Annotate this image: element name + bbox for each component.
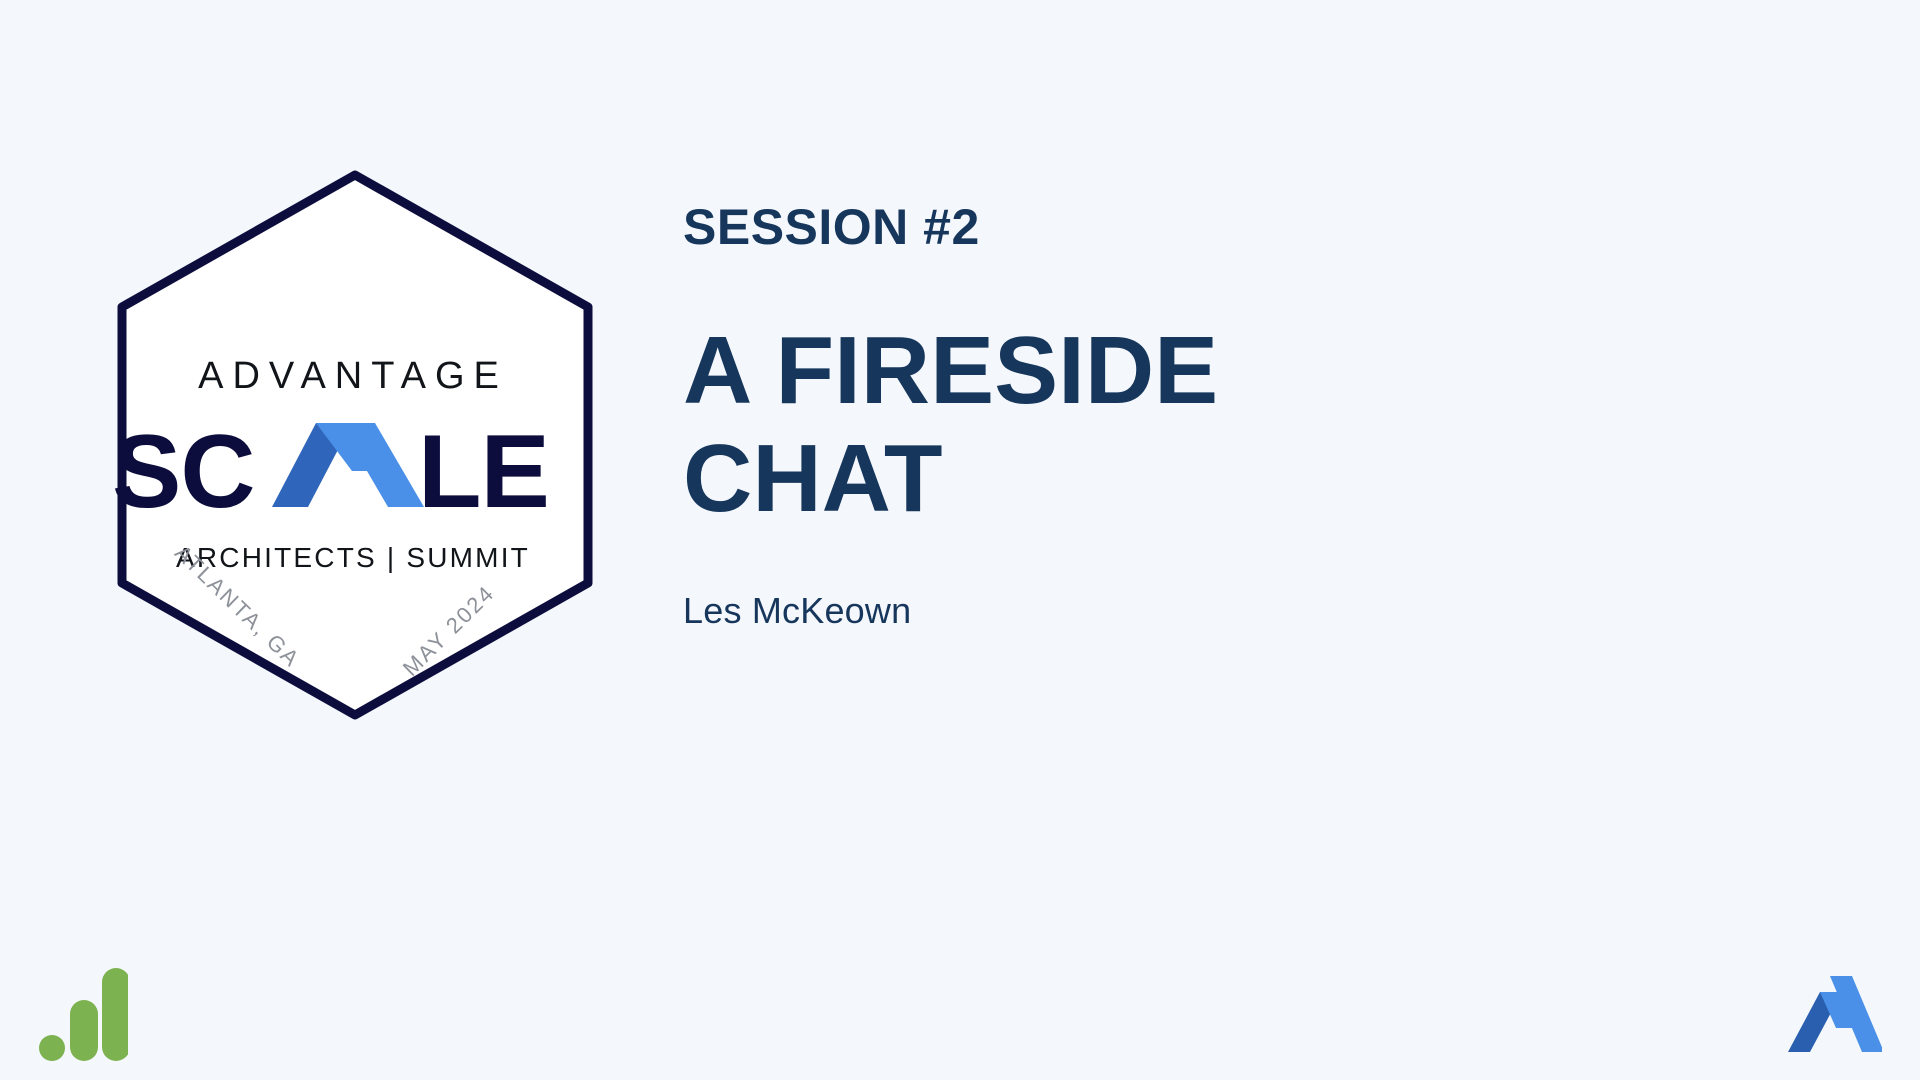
- advantage-a-icon: [1786, 966, 1882, 1062]
- speaker-name: Les McKeown: [683, 590, 1583, 632]
- session-title: A FIRESIDE CHAT: [683, 317, 1303, 532]
- badge-bottom-word: ARCHITECTS | SUMMIT: [176, 542, 530, 573]
- badge-graphic: ADVANTAGE SC LE ARCHITECTS | SUMMIT ATLA…: [100, 155, 610, 735]
- session-content: SESSION #2 A FIRESIDE CHAT Les McKeown: [683, 200, 1583, 632]
- session-number-label: SESSION #2: [683, 200, 1583, 255]
- analytics-bars-icon: [38, 966, 128, 1062]
- badge-scale-prefix: SC: [112, 414, 254, 530]
- badge-scale-suffix: LE: [418, 414, 549, 530]
- advantage-a-logo: [1786, 966, 1882, 1062]
- bar-1-dot: [39, 1035, 65, 1061]
- slide-canvas: ADVANTAGE SC LE ARCHITECTS | SUMMIT ATLA…: [0, 0, 1920, 1080]
- bar-3: [102, 968, 128, 1061]
- event-badge: ADVANTAGE SC LE ARCHITECTS | SUMMIT ATLA…: [100, 155, 610, 735]
- analytics-bars-logo: [38, 966, 128, 1062]
- bar-2: [70, 1000, 98, 1061]
- badge-top-word: ADVANTAGE: [198, 355, 508, 397]
